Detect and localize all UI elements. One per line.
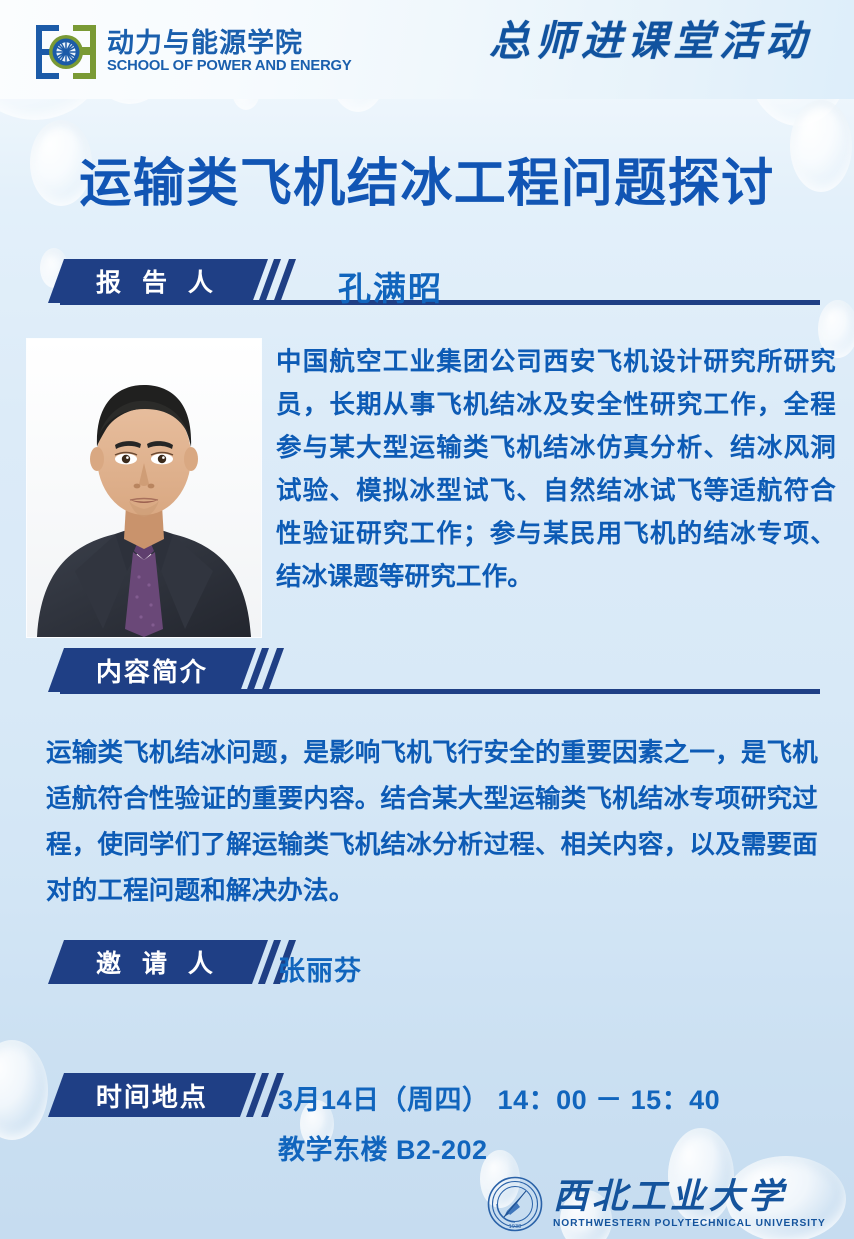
school-name-cn: 动力与能源学院 [107,30,347,57]
content-banner-slashes [250,648,290,692]
page-title: 运输类飞机结冰工程问题探讨 [0,141,854,216]
school-of-power-and-energy-logo-icon [33,22,99,82]
nwpu-seal-icon: 1938 [487,1176,543,1232]
schedule-banner-body: 时间地点 [48,1073,256,1117]
speaker-bio: 中国航空工业集团公司西安飞机设计研究所研究员，长期从事飞机结冰及安全性研究工作，… [276,341,836,599]
schedule-label: 时间地点 [96,1077,208,1114]
speaker-name: 孔满昭 [338,262,443,310]
content-rule [60,689,820,694]
content-banner-body: 内容简介 [48,648,256,692]
university-logo: 1938 西北工业大学 NORTHWESTERN POLYTECHNICAL U… [487,1173,837,1235]
speaker-banner-body: 报 告 人 [48,259,268,303]
university-name-cn: 西北工业大学 [553,1179,826,1214]
inviter-banner: 邀 请 人 [56,940,302,984]
inviter-name: 张丽芬 [278,949,362,988]
content-banner: 内容简介 [56,648,290,692]
seminar-poster: 动力与能源学院 SCHOOL OF POWER AND ENERGY 总师进课堂… [0,0,854,1239]
school-logo-text: 动力与能源学院 SCHOOL OF POWER AND ENERGY [107,30,347,75]
schedule-banner: 时间地点 [56,1073,290,1117]
schedule-datetime: 3月14日（周四） 14：00 － 15：40 [278,1078,720,1117]
svg-text:1938: 1938 [509,1224,522,1230]
university-logo-text: 西北工业大学 NORTHWESTERN POLYTECHNICAL UNIVER… [553,1179,826,1229]
speaker-label: 报 告 人 [96,263,220,299]
schedule-venue: 教学东楼 B2-202 [278,1128,488,1167]
campaign-title: 总师进课堂活动 [455,14,845,69]
bubble-decoration [0,1040,48,1140]
inviter-banner-body: 邀 请 人 [48,940,268,984]
content-abstract: 运输类飞机结冰问题，是影响飞机飞行安全的重要因素之一，是飞机适航符合性验证的重要… [46,730,818,914]
speaker-portrait [27,339,261,637]
university-name-en: NORTHWESTERN POLYTECHNICAL UNIVERSITY [553,1218,826,1229]
content-label: 内容简介 [96,652,208,689]
school-logo: 动力与能源学院 SCHOOL OF POWER AND ENERGY [33,22,347,82]
inviter-label: 邀 请 人 [96,944,220,980]
speaker-banner: 报 告 人 [56,259,302,303]
speaker-banner-slashes [262,259,302,303]
school-name-en: SCHOOL OF POWER AND ENERGY [107,59,352,75]
